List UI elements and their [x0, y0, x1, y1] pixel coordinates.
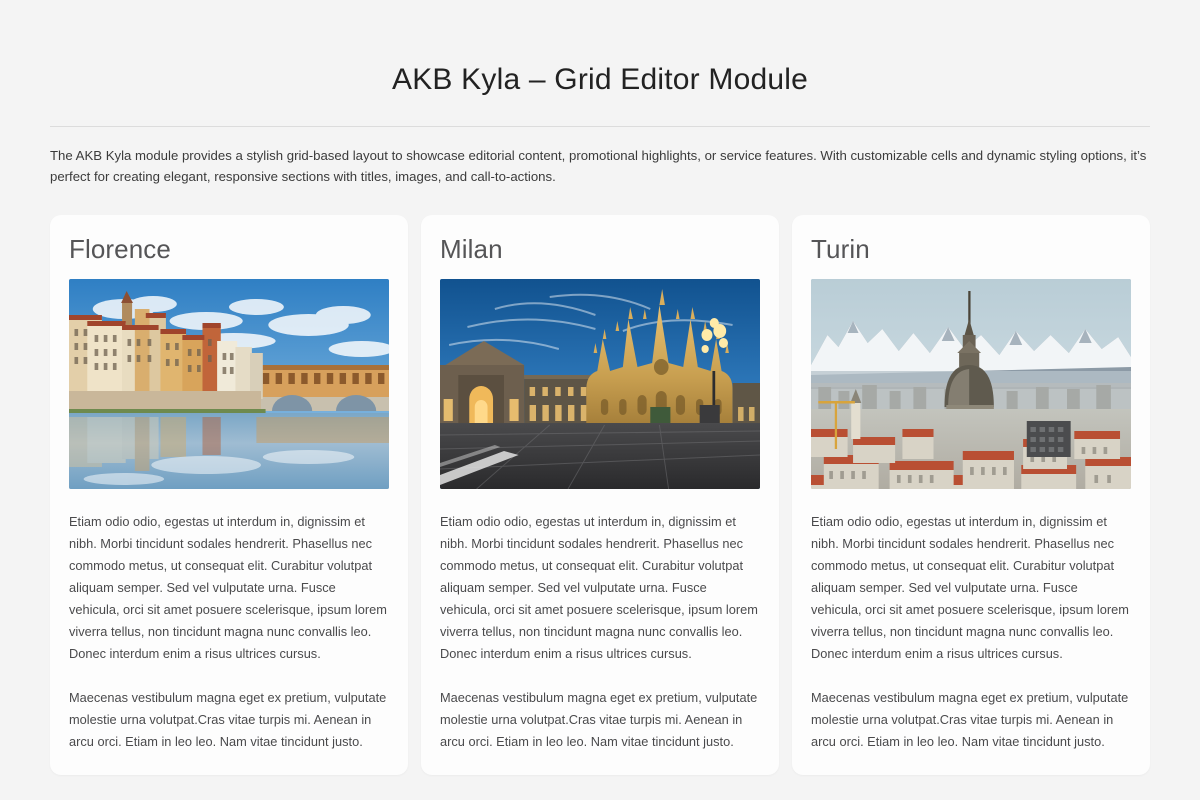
milan-duomo-piazza-dusk-photo: [440, 279, 760, 489]
card-body: Etiam odio odio, egestas ut interdum in,…: [69, 511, 389, 753]
card-paragraph: Etiam odio odio, egestas ut interdum in,…: [440, 511, 760, 665]
title-divider: [50, 126, 1150, 127]
card-paragraph: Etiam odio odio, egestas ut interdum in,…: [811, 511, 1131, 665]
card-title: Turin: [811, 233, 1131, 266]
module-preview-page: AKB Kyla – Grid Editor Module The AKB Ky…: [0, 0, 1200, 800]
card-paragraph: Maecenas vestibulum magna eget ex pretiu…: [811, 687, 1131, 753]
module-description: The AKB Kyla module provides a stylish g…: [50, 145, 1150, 188]
card-body: Etiam odio odio, egestas ut interdum in,…: [440, 511, 760, 753]
card-title: Milan: [440, 233, 760, 266]
card-body: Etiam odio odio, egestas ut interdum in,…: [811, 511, 1131, 753]
grid-card[interactable]: Florence: [50, 215, 408, 776]
card-grid: Florence: [50, 215, 1150, 776]
florence-ponte-vecchio-arno-photo: [69, 279, 389, 489]
card-paragraph: Maecenas vestibulum magna eget ex pretiu…: [440, 687, 760, 753]
turin-mole-antonelliana-alps-photo: [811, 279, 1131, 489]
card-title: Florence: [69, 233, 389, 266]
grid-card[interactable]: Milan: [421, 215, 779, 776]
card-paragraph: Maecenas vestibulum magna eget ex pretiu…: [69, 687, 389, 753]
page-title: AKB Kyla – Grid Editor Module: [50, 0, 1150, 98]
card-paragraph: Etiam odio odio, egestas ut interdum in,…: [69, 511, 389, 665]
grid-card[interactable]: Turin: [792, 215, 1150, 776]
